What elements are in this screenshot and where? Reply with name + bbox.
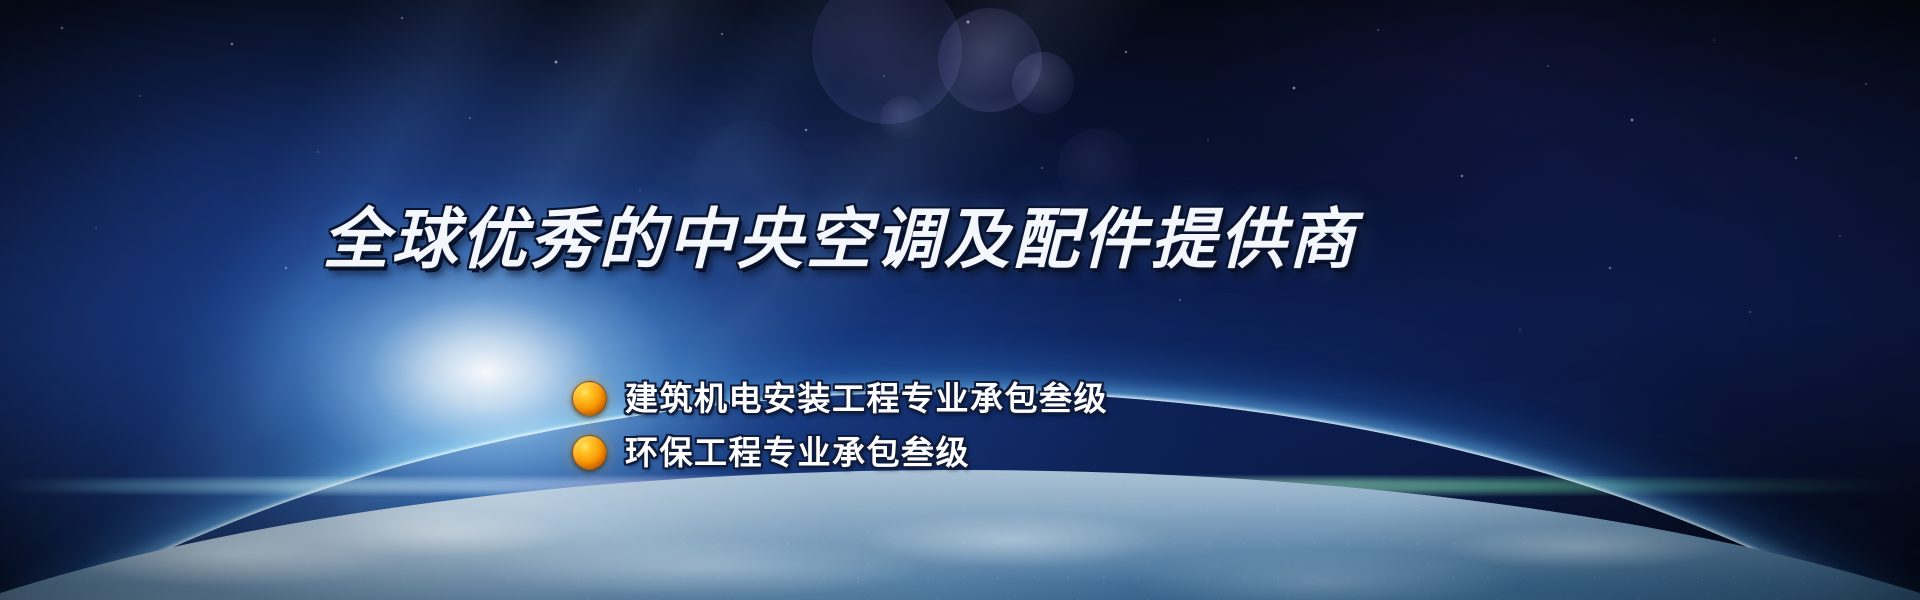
bullet-item-2-label: 环保工程专业承包叁级 [625, 436, 970, 469]
bullet-item-1: 建筑机电安装工程专业承包叁级 [572, 378, 1108, 418]
bullet-item-1-label: 建筑机电安装工程专业承包叁级 [625, 382, 1108, 415]
banner-content: 全球优秀的中央空调及配件提供商 建筑机电安装工程专业承包叁级 环保工程专业承包叁… [0, 0, 1920, 600]
hero-banner: 全球优秀的中央空调及配件提供商 建筑机电安装工程专业承包叁级 环保工程专业承包叁… [0, 0, 1920, 600]
banner-bullet-list: 建筑机电安装工程专业承包叁级 环保工程专业承包叁级 [572, 378, 1108, 472]
orange-bullet-dot-icon [572, 435, 607, 470]
bullet-item-2: 环保工程专业承包叁级 [572, 432, 1108, 472]
orange-bullet-dot-icon [572, 381, 607, 416]
banner-headline: 全球优秀的中央空调及配件提供商 [0, 206, 1680, 272]
